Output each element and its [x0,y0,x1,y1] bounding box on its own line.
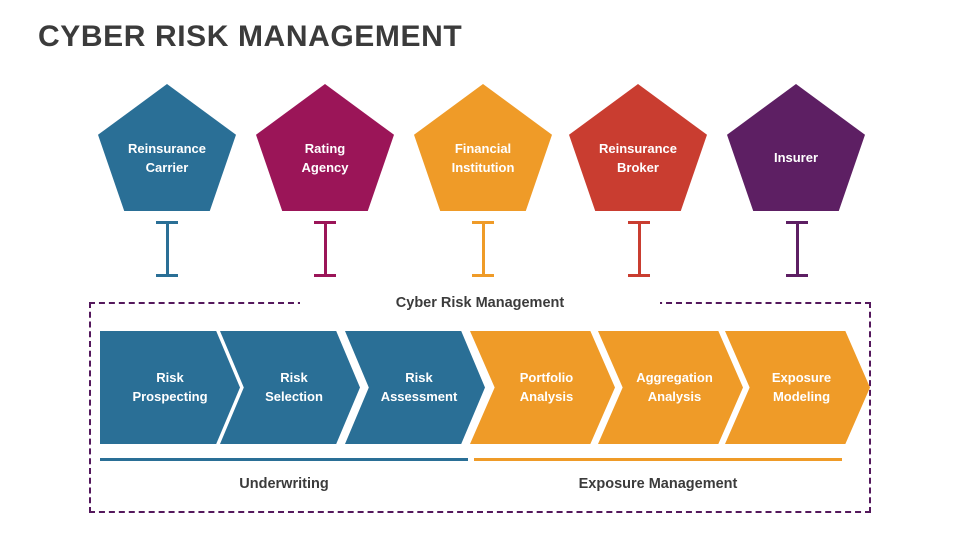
connector-ibeam [628,221,650,277]
pentagon-shape: Financial Institution [414,84,552,211]
pentagon-shape: Reinsurance Broker [569,84,707,211]
phase-label: Exposure Management [474,476,842,492]
stakeholder-pentagon: Reinsurance Broker [569,84,707,211]
stakeholder-pentagon: Reinsurance Carrier [98,84,236,211]
phase-underline [100,458,468,461]
container-title: Cyber Risk Management [300,295,660,312]
process-step-label: Aggregation Analysis [628,369,713,407]
stakeholder-label: Rating Agency [298,118,353,178]
process-step-label: Risk Selection [257,369,323,407]
stakeholder-pentagon: Financial Institution [414,84,552,211]
connector-ibeam [156,221,178,277]
stakeholder-label: Insurer [770,127,822,168]
connector-stem [482,221,485,277]
pentagon-shape: Reinsurance Carrier [98,84,236,211]
connector-ibeam [472,221,494,277]
process-step-label: Exposure Modeling [764,369,831,407]
stakeholder-pentagon: Insurer [727,84,865,211]
connector-ibeam [786,221,808,277]
connector-stem [324,221,327,277]
connector-stem [796,221,799,277]
pentagon-shape: Insurer [727,84,865,211]
stakeholder-label: Reinsurance Carrier [124,118,210,178]
page-title: CYBER RISK MANAGEMENT [38,20,462,54]
process-step-label: Portfolio Analysis [512,369,573,407]
stakeholder-label: Financial Institution [448,118,519,178]
phase-label: Underwriting [100,476,468,492]
process-step-label: Risk Assessment [373,369,458,407]
connector-stem [166,221,169,277]
stakeholder-label: Reinsurance Broker [595,118,681,178]
connector-ibeam [314,221,336,277]
process-step: Risk Prospecting [100,331,240,444]
connector-stem [638,221,641,277]
stakeholder-pentagon: Rating Agency [256,84,394,211]
phase-underline [474,458,842,461]
pentagon-shape: Rating Agency [256,84,394,211]
diagram-canvas: CYBER RISK MANAGEMENT Reinsurance Carrie… [0,0,960,540]
process-step-label: Risk Prospecting [132,369,207,407]
